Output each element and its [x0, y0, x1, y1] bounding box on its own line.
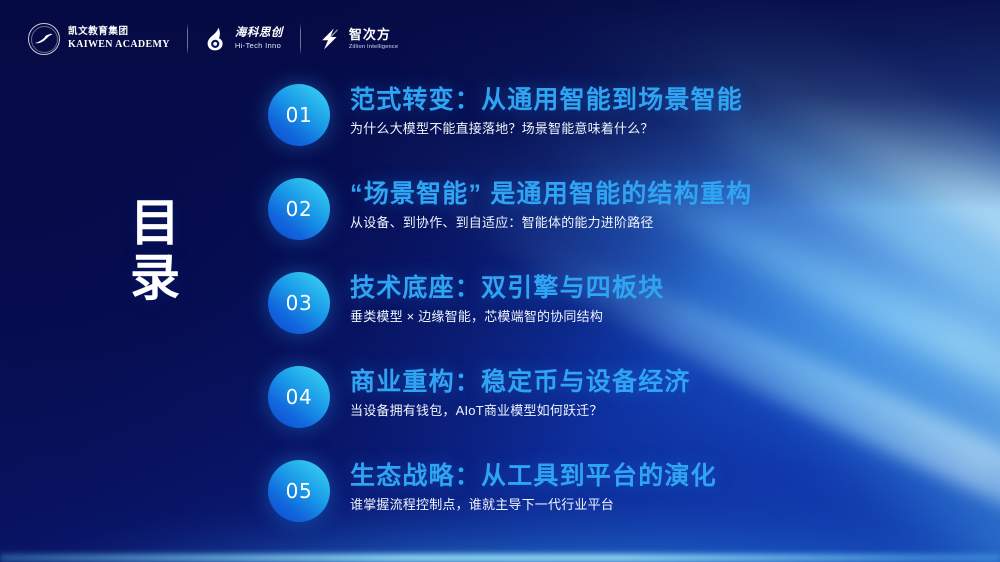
- page-title-line-1: 目: [116, 196, 196, 251]
- hi-tech-inno-wordmark: 海科思创 Hi-Tech Inno: [235, 27, 283, 50]
- toc-number-badge-02: 02: [268, 178, 330, 240]
- zhicifang-name-en: Zillion Intelligence: [349, 44, 398, 50]
- toc-number-badge-01: 01: [268, 84, 330, 146]
- toc-title-03: 技术底座：双引擎与四板块: [350, 274, 664, 302]
- toc-number-01: 01: [286, 103, 313, 127]
- bottom-light-line: [0, 554, 1000, 562]
- logo-bar: 凯文教育集团 KAIWEN ACADEMY 海科思创 Hi-Tech Inno: [28, 18, 398, 60]
- toc-subtitle-05: 谁掌握流程控制点，谁就主导下一代行业平台: [350, 497, 717, 513]
- kaiwen-name-cn: 凯文教育集团: [68, 27, 170, 37]
- table-of-contents: 01 范式转变：从通用智能到场景智能 为什么大模型不能直接落地？场景智能意味着什…: [268, 82, 988, 552]
- page-title-line-2: 录: [116, 251, 196, 306]
- logo-hi-tech-inno: 海科思创 Hi-Tech Inno: [205, 26, 283, 52]
- toc-subtitle-02: 从设备、到协作、到自适应：智能体的能力进阶路径: [350, 215, 752, 231]
- toc-number-02: 02: [286, 197, 313, 221]
- toc-item-02[interactable]: 02 “场景智能” 是通用智能的结构重构 从设备、到协作、到自适应：智能体的能力…: [268, 176, 988, 270]
- zhicifang-wordmark: 智次方 Zillion Intelligence: [349, 28, 398, 50]
- toc-text-02: “场景智能” 是通用智能的结构重构 从设备、到协作、到自适应：智能体的能力进阶路…: [350, 176, 752, 231]
- toc-title-04: 商业重构：稳定币与设备经济: [350, 368, 691, 396]
- toc-title-05: 生态战略：从工具到平台的演化: [350, 462, 717, 490]
- logo-kaiwen-academy: 凯文教育集团 KAIWEN ACADEMY: [28, 23, 170, 55]
- toc-number-04: 04: [286, 385, 313, 409]
- toc-number-badge-04: 04: [268, 366, 330, 428]
- hi-tech-inno-name-cn: 海科思创: [235, 27, 283, 40]
- logo-zhicifang: 智次方 Zillion Intelligence: [318, 26, 398, 52]
- toc-item-01[interactable]: 01 范式转变：从通用智能到场景智能 为什么大模型不能直接落地？场景智能意味着什…: [268, 82, 988, 176]
- toc-number-badge-05: 05: [268, 460, 330, 522]
- toc-text-04: 商业重构：稳定币与设备经济 当设备拥有钱包，AIoT商业模型如何跃迁？: [350, 364, 691, 419]
- toc-number-badge-03: 03: [268, 272, 330, 334]
- toc-item-03[interactable]: 03 技术底座：双引擎与四板块 垂类模型 × 边缘智能，芯模端智的协同结构: [268, 270, 988, 364]
- hi-tech-inno-name-en: Hi-Tech Inno: [235, 42, 283, 51]
- toc-item-05[interactable]: 05 生态战略：从工具到平台的演化 谁掌握流程控制点，谁就主导下一代行业平台: [268, 458, 988, 552]
- zhicifang-name-cn: 智次方: [349, 28, 398, 42]
- zhicifang-bolt-icon: [318, 26, 343, 52]
- logo-divider-2: [300, 23, 301, 55]
- toc-text-05: 生态战略：从工具到平台的演化 谁掌握流程控制点，谁就主导下一代行业平台: [350, 458, 717, 513]
- hi-tech-inno-flame-icon: [205, 26, 229, 52]
- toc-number-05: 05: [286, 479, 313, 503]
- page-title: 目 录: [116, 196, 196, 306]
- toc-title-01: 范式转变：从通用智能到场景智能: [350, 86, 743, 114]
- toc-subtitle-03: 垂类模型 × 边缘智能，芯模端智的协同结构: [350, 309, 664, 325]
- toc-item-04[interactable]: 04 商业重构：稳定币与设备经济 当设备拥有钱包，AIoT商业模型如何跃迁？: [268, 364, 988, 458]
- kaiwen-wordmark: 凯文教育集团 KAIWEN ACADEMY: [68, 27, 170, 50]
- toc-text-03: 技术底座：双引擎与四板块 垂类模型 × 边缘智能，芯模端智的协同结构: [350, 270, 664, 325]
- toc-number-03: 03: [286, 291, 313, 315]
- presentation-slide: 凯文教育集团 KAIWEN ACADEMY 海科思创 Hi-Tech Inno: [0, 0, 1000, 562]
- toc-subtitle-01: 为什么大模型不能直接落地？场景智能意味着什么？: [350, 121, 743, 137]
- logo-divider-1: [187, 23, 188, 55]
- toc-title-02: “场景智能” 是通用智能的结构重构: [350, 180, 752, 208]
- toc-text-01: 范式转变：从通用智能到场景智能 为什么大模型不能直接落地？场景智能意味着什么？: [350, 82, 743, 137]
- kaiwen-eagle-emblem-icon: [28, 23, 60, 55]
- kaiwen-name-en: KAIWEN ACADEMY: [68, 40, 170, 51]
- toc-subtitle-04: 当设备拥有钱包，AIoT商业模型如何跃迁？: [350, 403, 691, 419]
